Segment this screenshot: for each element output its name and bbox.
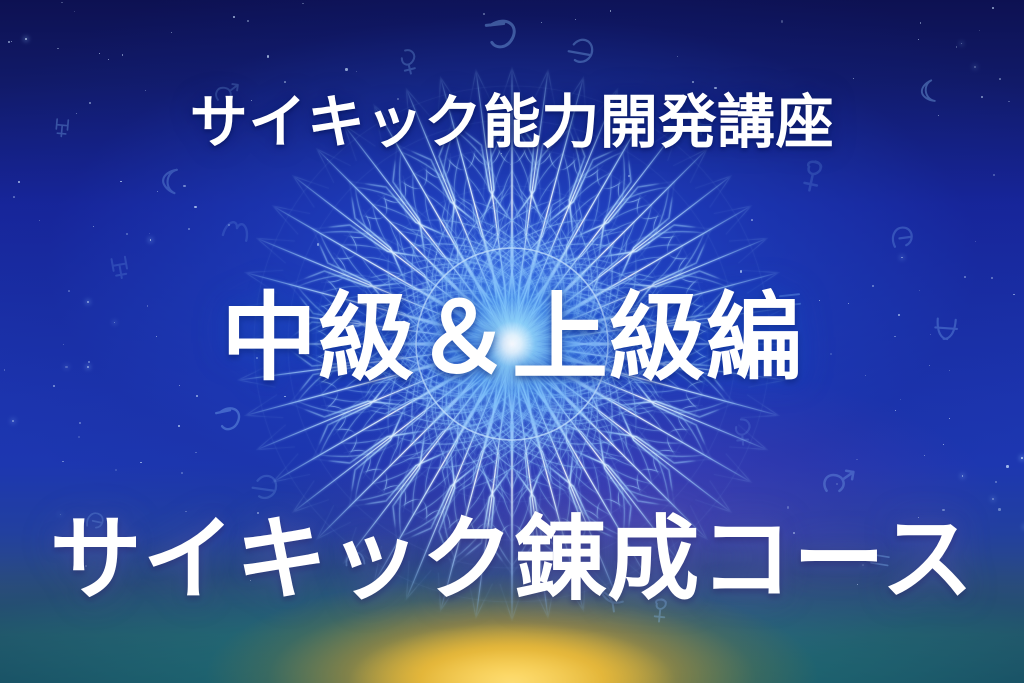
star: [145, 90, 146, 91]
star: [992, 7, 994, 9]
star: [1006, 465, 1008, 467]
zodiac-glyph: [223, 220, 250, 240]
star: [570, 241, 572, 243]
star: [345, 68, 347, 70]
zodiac-glyph: [891, 226, 912, 246]
star: [964, 276, 966, 278]
star: [962, 475, 964, 477]
star: [943, 444, 944, 445]
star: [535, 236, 537, 238]
zodiac-glyph: [823, 467, 853, 494]
star: [302, 3, 304, 5]
star: [836, 483, 838, 485]
star: [284, 396, 286, 398]
star: [592, 240, 594, 242]
star: [781, 20, 783, 22]
headline-top: サイキック能力開発講座: [0, 92, 1024, 153]
zodiac-glyph: [486, 20, 516, 48]
zodiac-glyph: [251, 474, 277, 499]
star: [57, 48, 59, 50]
star: [25, 38, 27, 40]
star: [510, 164, 511, 165]
star: [356, 71, 357, 72]
zodiac-glyph: [803, 160, 822, 191]
star: [853, 78, 854, 79]
star: [79, 422, 81, 424]
star: [115, 469, 117, 471]
star: [61, 2, 63, 4]
zodiac-glyph: [112, 257, 129, 279]
star: [677, 56, 678, 57]
star: [8, 41, 10, 43]
star: [18, 181, 20, 183]
star: [918, 39, 920, 41]
star: [465, 251, 467, 253]
zodiac-glyph: [216, 407, 242, 431]
star: [120, 181, 121, 182]
star: [751, 219, 753, 221]
star: [93, 226, 94, 227]
star: [436, 254, 438, 256]
star: [171, 32, 173, 34]
star: [78, 436, 80, 438]
star: [541, 22, 542, 23]
star: [901, 257, 902, 258]
star: [991, 277, 993, 279]
star: [99, 53, 100, 54]
star: [596, 244, 598, 246]
star: [150, 239, 152, 241]
star: [628, 175, 630, 177]
star: [196, 395, 198, 397]
star: [924, 455, 925, 456]
star: [74, 11, 75, 12]
star: [284, 81, 286, 83]
star: [178, 425, 180, 427]
star: [610, 477, 612, 479]
star: [247, 20, 249, 22]
star: [62, 461, 64, 463]
zodiac-glyph: [162, 169, 177, 194]
star: [575, 19, 576, 20]
star: [233, 16, 235, 18]
star: [157, 191, 158, 192]
star: [12, 420, 13, 421]
star: [317, 243, 319, 245]
star: [956, 46, 957, 47]
star: [327, 159, 328, 160]
star: [648, 242, 650, 244]
headline-bottom: サイキック錬成コース: [0, 512, 1024, 609]
star: [267, 55, 270, 58]
star: [995, 481, 997, 483]
star: [194, 206, 196, 208]
star: [188, 228, 190, 230]
star: [979, 30, 980, 31]
zodiac-glyph: [400, 49, 418, 75]
star: [895, 410, 896, 411]
star: [181, 472, 183, 474]
star: [856, 459, 857, 460]
star: [900, 399, 901, 400]
star: [140, 462, 142, 464]
zodiac-glyph: [735, 419, 751, 445]
star: [740, 270, 742, 272]
star: [692, 81, 693, 82]
star: [183, 185, 186, 188]
star: [11, 41, 12, 42]
star: [490, 226, 491, 227]
star: [974, 66, 977, 69]
star: [975, 241, 976, 242]
star: [122, 54, 124, 56]
star: [126, 233, 128, 235]
star: [920, 22, 922, 24]
star: [1021, 457, 1023, 459]
star: [483, 13, 485, 15]
star: [993, 174, 995, 176]
star: [949, 418, 950, 419]
star: [195, 452, 196, 453]
star: [108, 59, 110, 61]
headline-middle: 中級＆上級編: [0, 288, 1024, 389]
star: [961, 43, 962, 44]
star: [39, 220, 40, 221]
star: [872, 285, 874, 287]
star: [149, 233, 150, 234]
star: [998, 508, 1000, 510]
zodiac-glyph: [567, 38, 594, 64]
star: [610, 10, 612, 12]
psychic-course-banner: サイキック能力開発講座 中級＆上級編 サイキック錬成コース: [0, 0, 1024, 683]
star: [992, 498, 994, 500]
star: [228, 224, 230, 226]
star: [13, 196, 15, 198]
star: [999, 78, 1001, 80]
